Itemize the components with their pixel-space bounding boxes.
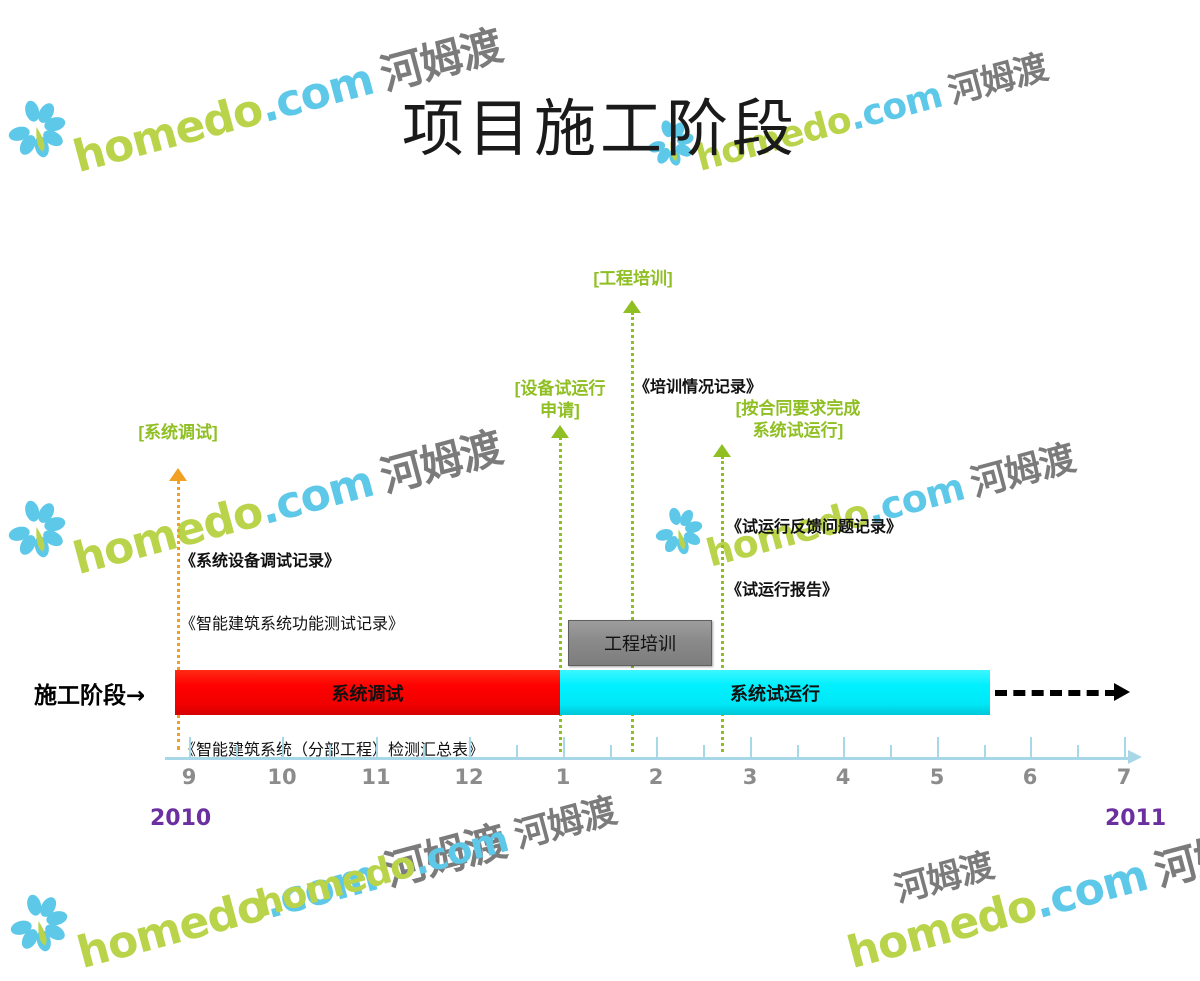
- year-label-end: 2011: [1105, 806, 1166, 831]
- tick-label: 3: [730, 765, 770, 789]
- tick-label: 11: [356, 765, 396, 789]
- doc-item: 《试运行报告》: [726, 579, 902, 600]
- tick-label: 9: [169, 765, 209, 789]
- watermark-com: .com: [258, 850, 382, 929]
- watermark-chinese: 河姆渡: [890, 845, 998, 910]
- callout-label-contract-trial-complete: [按合同要求完成 系统试运行]: [648, 398, 948, 442]
- watermark-text: 河姆渡: [880, 838, 998, 915]
- phase-row-label: 施工阶段→: [34, 676, 145, 710]
- tick-label: 7: [1104, 765, 1144, 789]
- time-axis-line: [165, 757, 1130, 760]
- homedo-flower-logo: [0, 491, 75, 567]
- callout-label-system-commissioning: [系统调试]: [98, 422, 258, 444]
- watermark-chinese: 河姆渡: [966, 436, 1079, 504]
- callout-label-engineering-training: [工程培训]: [562, 268, 704, 290]
- watermark-chinese: 河姆渡: [379, 817, 511, 896]
- training-box[interactable]: 工程培训: [568, 620, 712, 666]
- homedo-flower-logo: [648, 500, 710, 562]
- doc-item: 《系统设备调试记录》: [180, 550, 484, 571]
- tick-label: 1: [543, 765, 583, 789]
- watermark-com: .com: [1028, 850, 1152, 929]
- bar-system-commissioning[interactable]: 系统调试: [175, 670, 560, 715]
- tick-label: 4: [823, 765, 863, 789]
- tick-label: 6: [1010, 765, 1050, 789]
- bar-system-trial-run[interactable]: 系统试运行: [560, 670, 990, 715]
- tick-label: 5: [917, 765, 957, 789]
- doc-item: 《试运行反馈问题记录》: [726, 516, 902, 537]
- callout-docs-contract-trial-complete: 《试运行反馈问题记录》 《试运行报告》: [726, 474, 902, 642]
- watermark-text: homedo.com河姆渡: [840, 808, 1200, 981]
- watermark-homedo: homedo: [842, 880, 1042, 979]
- watermark-chinese: 河姆渡: [510, 789, 620, 856]
- tick-label: 12: [449, 765, 489, 789]
- time-axis-arrow-icon: [1128, 750, 1142, 764]
- watermark-homedo: homedo: [252, 843, 420, 926]
- watermark-homedo: homedo: [72, 880, 272, 979]
- tick-label: 10: [262, 765, 302, 789]
- timeline-continuation-dashes: [995, 690, 1117, 696]
- watermark-chinese: 河姆渡: [375, 423, 507, 502]
- year-label-start: 2010: [150, 806, 211, 831]
- callout-label-equipment-trial-application: [设备试运行 申请]: [495, 378, 625, 422]
- timeline-continuation-arrow-icon: [1114, 683, 1130, 701]
- doc-item: 《培训情况记录》: [634, 376, 762, 397]
- watermark-text: homedo.com河姆渡: [70, 808, 512, 981]
- watermark-text: homedo.com河姆渡: [250, 782, 621, 927]
- page-title: 项目施工阶段: [0, 78, 1200, 168]
- homedo-flower-logo: [1, 885, 77, 961]
- tick-label: 2: [636, 765, 676, 789]
- slide-canvas: homedo.com河姆渡 homedo.com河姆渡: [0, 0, 1200, 900]
- doc-item: 《智能建筑系统功能测试记录》: [180, 613, 484, 634]
- watermark-com: .com: [408, 818, 512, 884]
